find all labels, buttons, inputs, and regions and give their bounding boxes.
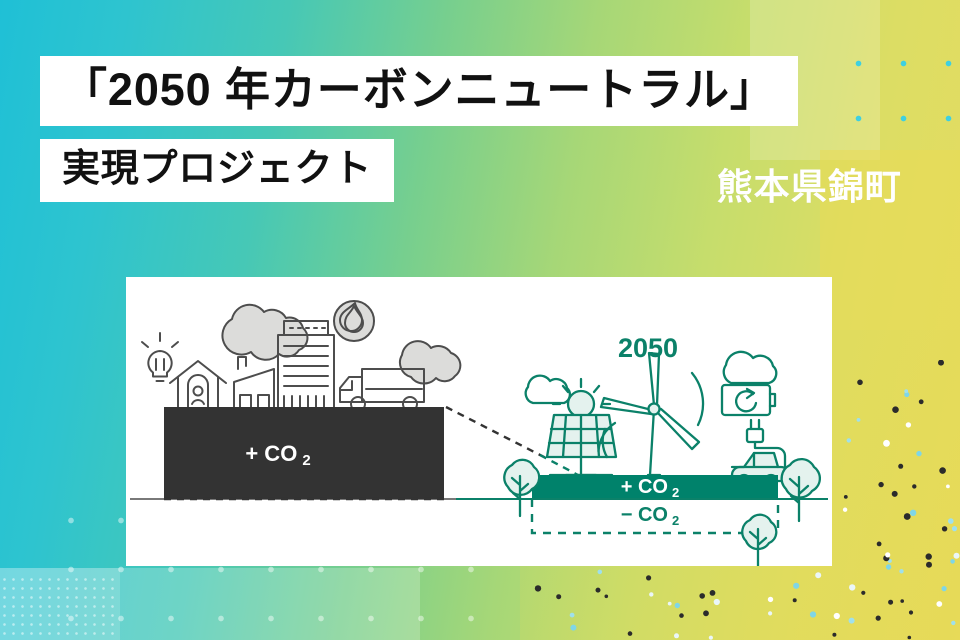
house-icon <box>170 361 226 407</box>
tree-icon <box>782 459 820 521</box>
title-bar-line1: 「2050 年カーボンニュートラル」 <box>40 56 798 126</box>
page-title: 「2050 年カーボンニュートラル」 <box>62 65 776 115</box>
poster-canvas: 「2050 年カーボンニュートラル」 実現プロジェクト 熊本県錦町 .gl { … <box>0 0 960 640</box>
dot-grid-top-right <box>830 30 960 160</box>
battery-recycle-icon <box>722 385 775 415</box>
lightbulb-icon <box>142 333 178 381</box>
connector-line-top-dark <box>446 407 546 458</box>
region-label: 熊本県錦町 <box>717 158 902 210</box>
co2-absorption-label: − CO2 <box>621 504 679 528</box>
title-bar-line2: 実現プロジェクト <box>40 139 394 202</box>
cloud-icon <box>724 352 776 383</box>
year-label-2050: 2050 <box>618 333 678 363</box>
office-building-icon <box>278 321 334 408</box>
tree-icon <box>504 460 539 516</box>
cloud-icon <box>526 376 570 403</box>
smoke-cloud-icon <box>400 341 460 383</box>
smoke-cloud-icon <box>222 305 307 360</box>
factory-icon <box>234 357 274 408</box>
title-block: 「2050 年カーボンニュートラル」 実現プロジェクト <box>40 56 798 202</box>
page-subtitle: 実現プロジェクト <box>62 148 372 191</box>
solar-panel-icon <box>547 379 616 475</box>
tree-icon <box>742 515 776 566</box>
flame-icon <box>334 301 374 341</box>
dot-texture-bottom-left <box>0 575 120 640</box>
illustration-card: .gl { fill:none; stroke:#4d4d4d; stroke-… <box>126 277 832 566</box>
